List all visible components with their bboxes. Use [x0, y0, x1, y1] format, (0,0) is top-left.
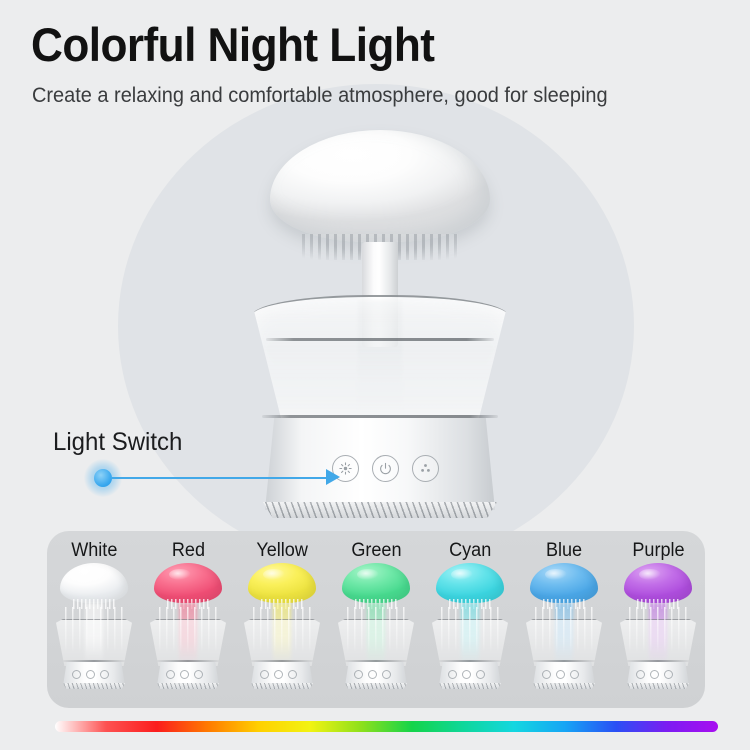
thumbnail-control-dot: [86, 670, 95, 679]
thumbnail-control-dot: [570, 670, 579, 679]
product-image-main: [240, 130, 520, 520]
tank-bottom-line: [262, 415, 498, 418]
tank-water-line: [266, 338, 494, 341]
thumbnail-raindrops: [253, 607, 311, 653]
thumbnail-vents: [625, 683, 691, 689]
color-swatch-grid: WhiteRedYellowGreenCyanBluePurple: [47, 531, 705, 708]
product-thumbnail: [145, 563, 231, 693]
product-thumbnail: [51, 563, 137, 693]
thumbnail-control-dots: [166, 670, 203, 679]
thumbnail-control-dot: [636, 670, 645, 679]
mushroom-cap: [270, 130, 490, 242]
power-button[interactable]: [372, 455, 399, 482]
thumbnail-control-dot: [462, 670, 471, 679]
product-marketing-image: Colorful Night Light Create a relaxing a…: [0, 0, 750, 750]
product-thumbnail: [239, 563, 325, 693]
thumbnail-control-dot: [72, 670, 81, 679]
control-buttons: [332, 455, 439, 482]
thumbnail-control-dot: [288, 670, 297, 679]
callout-line: [112, 477, 330, 479]
thumbnail-raindrops: [535, 607, 593, 653]
thumbnail-vents: [155, 683, 221, 689]
callout-arrow-icon: [326, 469, 340, 485]
light-switch-label: Light Switch: [53, 428, 182, 457]
color-swatch-label: White: [71, 540, 117, 562]
thumbnail-control-dot: [556, 670, 565, 679]
thumbnail-cap: [530, 563, 598, 603]
color-swatch: Green: [329, 531, 423, 708]
color-swatch: Purple: [611, 531, 705, 708]
thumbnail-control-dot: [382, 670, 391, 679]
color-swatch: Red: [141, 531, 235, 708]
thumbnail-vents: [437, 683, 503, 689]
thumbnail-control-dot: [180, 670, 189, 679]
thumbnail-control-dot: [664, 670, 673, 679]
base-vents: [258, 502, 502, 518]
thumbnail-control-dot: [542, 670, 551, 679]
thumbnail-control-dot: [260, 670, 269, 679]
color-swatch: Cyan: [423, 531, 517, 708]
color-swatch: White: [47, 531, 141, 708]
thumbnail-raindrops: [347, 607, 405, 653]
thumbnail-cap: [60, 563, 128, 603]
thumbnail-control-dots: [72, 670, 109, 679]
thumbnail-cap: [624, 563, 692, 603]
thumbnail-control-dot: [368, 670, 377, 679]
thumbnail-cap: [154, 563, 222, 603]
water-tank: [252, 295, 508, 425]
product-thumbnail: [615, 563, 701, 693]
thumbnail-control-dots: [448, 670, 485, 679]
product-thumbnail: [427, 563, 513, 693]
thumbnail-control-dots: [636, 670, 673, 679]
thumbnail-vents: [343, 683, 409, 689]
color-swatch: Blue: [517, 531, 611, 708]
color-swatch-label: Red: [171, 540, 204, 562]
color-swatch: Yellow: [235, 531, 329, 708]
thumbnail-vents: [531, 683, 597, 689]
callout-dot: [94, 469, 112, 487]
color-swatch-label: Cyan: [449, 540, 491, 562]
color-swatch-label: Blue: [546, 540, 582, 562]
thumbnail-vents: [61, 683, 127, 689]
thumbnail-vents: [249, 683, 315, 689]
thumbnail-raindrops: [629, 607, 687, 653]
thumbnail-raindrops: [159, 607, 217, 653]
thumbnail-control-dot: [166, 670, 175, 679]
color-swatch-label: Yellow: [256, 540, 308, 562]
thumbnail-control-dot: [100, 670, 109, 679]
rainbow-gradient-bar: [55, 721, 718, 732]
color-swatch-label: Green: [351, 540, 401, 562]
thumbnail-control-dot: [274, 670, 283, 679]
thumbnail-control-dot: [476, 670, 485, 679]
thumbnail-cap: [436, 563, 504, 603]
page-subtitle: Create a relaxing and comfortable atmosp…: [32, 84, 608, 108]
thumbnail-cap: [248, 563, 316, 603]
thumbnail-control-dot: [194, 670, 203, 679]
thumbnail-cap: [342, 563, 410, 603]
thumbnail-control-dots: [542, 670, 579, 679]
page-title: Colorful Night Light: [31, 19, 434, 71]
thumbnail-control-dots: [354, 670, 391, 679]
mist-button[interactable]: [412, 455, 439, 482]
thumbnail-raindrops: [441, 607, 499, 653]
thumbnail-control-dot: [448, 670, 457, 679]
thumbnail-raindrops: [65, 607, 123, 653]
product-thumbnail: [521, 563, 607, 693]
color-swatch-panel: WhiteRedYellowGreenCyanBluePurple: [47, 531, 705, 708]
product-thumbnail: [333, 563, 419, 693]
thumbnail-control-dots: [260, 670, 297, 679]
thumbnail-control-dot: [650, 670, 659, 679]
color-swatch-label: Purple: [632, 540, 684, 562]
thumbnail-control-dot: [354, 670, 363, 679]
